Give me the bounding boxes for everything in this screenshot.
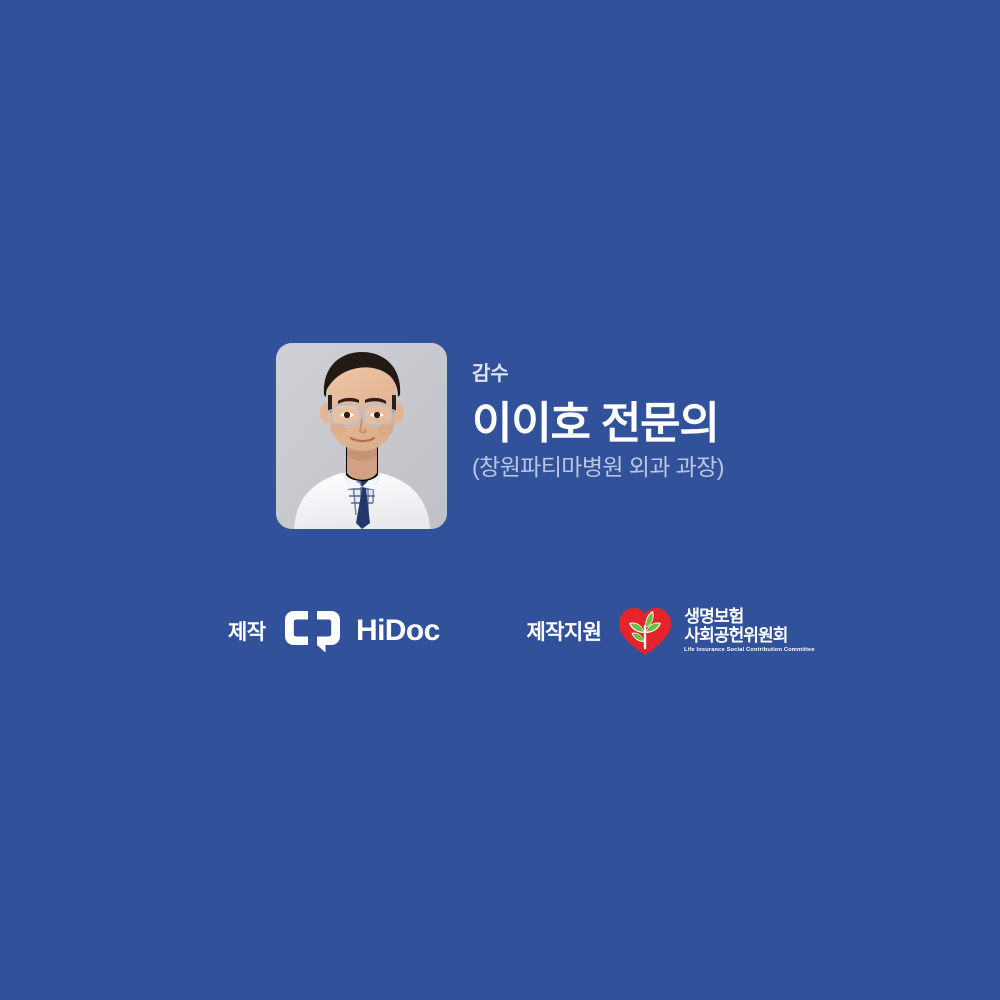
credit-doctor-name: 이이호 전문의	[472, 401, 724, 447]
producer-group: 제작 HiDoc	[228, 609, 462, 653]
hidoc-speech-bubble-mark	[284, 609, 344, 653]
svg-text:HiDoc: HiDoc	[356, 614, 440, 647]
slide-canvas: 감수 이이호 전문의 (창원파티마병원 외과 과장) 제작 HiDoc	[0, 0, 1000, 1000]
doctor-portrait	[276, 343, 447, 529]
committee-name-line1: 생명보험	[684, 607, 812, 626]
hidoc-logo: HiDoc	[284, 609, 462, 653]
supporter-label: 제작지원	[526, 616, 601, 646]
heart-sprout-icon	[617, 604, 673, 658]
credit-text-group: 감수 이이호 전문의 (창원파티마병원 외과 과장)	[472, 343, 724, 480]
committee-name-english: Life Insurance Social Contribution Commi…	[684, 647, 815, 654]
footer-logo-row: 제작 HiDoc 제작지원	[228, 604, 812, 658]
credit-affiliation: (창원파티마병원 외과 과장)	[472, 455, 724, 480]
hidoc-wordmark: HiDoc	[356, 613, 462, 649]
committee-name-line2: 사회공헌위원회	[684, 626, 812, 645]
producer-label: 제작	[228, 616, 265, 646]
committee-text-group: 생명보험 사회공헌위원회 Life Insurance Social Contr…	[684, 607, 812, 654]
supervisor-credit-block: 감수 이이호 전문의 (창원파티마병원 외과 과장)	[276, 343, 724, 529]
credit-role-label: 감수	[472, 364, 724, 384]
life-insurance-committee-logo: 생명보험 사회공헌위원회 Life Insurance Social Contr…	[617, 604, 812, 658]
supporter-group: 제작지원	[526, 604, 812, 658]
